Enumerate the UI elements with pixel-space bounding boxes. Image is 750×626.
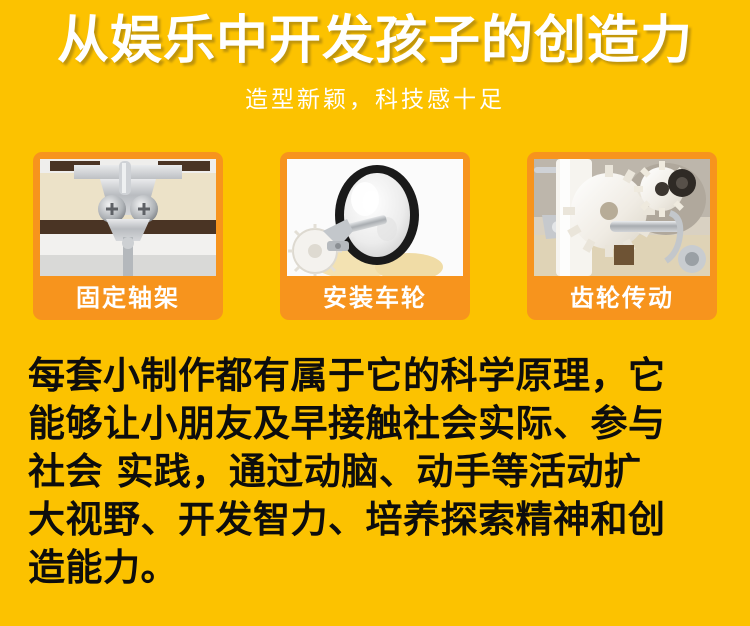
promo-page: 从娱乐中开发孩子的创造力 造型新颖，科技感十足	[0, 0, 750, 626]
axle-bracket-illustration	[40, 159, 216, 276]
page-title: 从娱乐中开发孩子的创造力	[0, 10, 750, 72]
wheel-illustration	[287, 159, 463, 276]
description-line: 能够让小朋友及早接触社会实际、参与	[28, 400, 728, 448]
feature-card-label: 安装车轮	[280, 276, 470, 320]
description-line: 每套小制作都有属于它的科学原理，它	[28, 352, 728, 400]
feature-card-row: 固定轴架	[33, 152, 717, 320]
feature-card-label: 固定轴架	[33, 276, 223, 320]
description-line: 造能力。	[28, 544, 728, 592]
feature-card-fixed-axle[interactable]: 固定轴架	[33, 152, 223, 320]
page-subtitle: 造型新颖，科技感十足	[0, 85, 750, 115]
feature-card-label: 齿轮传动	[527, 276, 717, 320]
header-section: 从娱乐中开发孩子的创造力 造型新颖，科技感十足	[0, 0, 750, 132]
feature-card-wheel-install[interactable]: 安装车轮	[280, 152, 470, 320]
feature-card-gear-drive[interactable]: 齿轮传动	[527, 152, 717, 320]
description-paragraph: 每套小制作都有属于它的科学原理，它 能够让小朋友及早接触社会实际、参与 社会 实…	[28, 352, 728, 592]
description-line: 社会 实践，通过动脑、动手等活动扩	[28, 448, 728, 496]
axle-bracket-photo	[40, 159, 216, 276]
gear-illustration	[534, 159, 710, 276]
wheel-photo	[287, 159, 463, 276]
description-line: 大视野、开发智力、培养探索精神和创	[28, 496, 728, 544]
gear-photo	[534, 159, 710, 276]
